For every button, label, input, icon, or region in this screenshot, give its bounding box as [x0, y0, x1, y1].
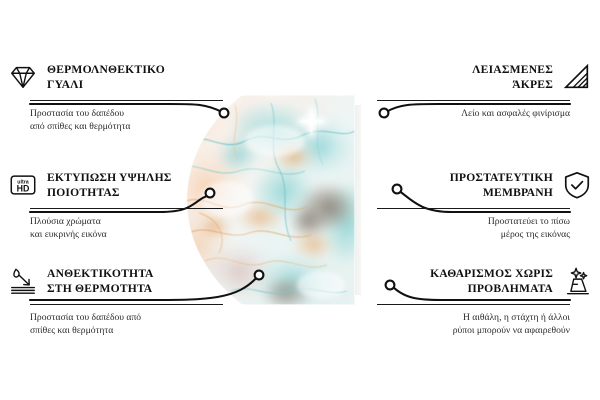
feature-title: ΠΡΟΣΤΑΤΕΥΤΙΚΗ ΜΕΜΒΡΑΝΗ: [450, 170, 553, 201]
feature-header: ΛΕΙΑΣΜΕΝΕΣ ΆΚΡΕΣ: [377, 62, 592, 93]
feature-thermal-glass: ΘΕΡΜΟΛΝΘΕΚΤΙΚΟ ΓΥΑΛΙ Προστασία του δαπέδ…: [8, 62, 223, 134]
feature-header: ΑΝΘΕΚΤΙΚΟΤΗΤΑ ΣΤΗ ΘΕΡΜΟΤΗΤΑ: [8, 266, 223, 297]
feature-subtitle: Λείο και ασφαλές φινίρισμα: [377, 107, 570, 121]
feature-title: ΘΕΡΜΟΛΝΘΕΚΤΙΚΟ ΓΥΑΛΙ: [47, 62, 165, 93]
feature-header: ΠΡΟΣΤΑΤΕΥΤΙΚΗ ΜΕΜΒΡΑΝΗ: [377, 170, 592, 201]
feature-title: ΚΑΘΑΡΙΣΜΟΣ ΧΩΡΙΣ ΠΡΟΒΛΗΜΑΤΑ: [430, 266, 553, 297]
feature-subtitle: Προστατεύει το πίσω μέρος της εικόνας: [377, 215, 570, 242]
feature-high-quality-print: ultra HD ΕΚΤΥΠΩΣΗ ΥΨΗΛΗΣ ΠΟΙΟΤΗΤΑΣ Πλούσ…: [8, 170, 223, 242]
feature-title: ΑΝΘΕΚΤΙΚΟΤΗΤΑ ΣΤΗ ΘΕΡΜΟΤΗΤΑ: [47, 266, 154, 297]
feature-protective-membrane: ΠΡΟΣΤΑΤΕΥΤΙΚΗ ΜΕΜΒΡΑΝΗ Προστατεύει το πί…: [377, 170, 592, 242]
feature-divider: [377, 304, 570, 305]
feature-title: ΕΚΤΥΠΩΣΗ ΥΨΗΛΗΣ ΠΟΙΟΤΗΤΑΣ: [47, 170, 172, 201]
feature-divider: [377, 208, 570, 209]
shield-check-icon: [562, 170, 592, 200]
feature-subtitle: Προστασία του δαπέδου από σπίθες και θερ…: [30, 311, 223, 338]
feature-divider: [30, 208, 223, 209]
feature-subtitle: Πλούσια χρώματα και ευκρινής εικόνα: [30, 215, 223, 242]
feature-divider: [30, 304, 223, 305]
infographic-stage: ΘΕΡΜΟΛΝΘΕΚΤΙΚΟ ΓΥΑΛΙ Προστασία του δαπέδ…: [0, 0, 600, 400]
feature-polished-edges: ΛΕΙΑΣΜΕΝΕΣ ΆΚΡΕΣ Λείο και ασφαλές φινίρι…: [377, 62, 592, 120]
feature-header: ultra HD ΕΚΤΥΠΩΣΗ ΥΨΗΛΗΣ ΠΟΙΟΤΗΤΑΣ: [8, 170, 223, 201]
feature-subtitle: Προστασία του δαπέδου από σπίθες και θερ…: [30, 107, 223, 134]
feature-heat-resistance: ΑΝΘΕΚΤΙΚΟΤΗΤΑ ΣΤΗ ΘΕΡΜΟΤΗΤΑ Προστασία το…: [8, 266, 223, 338]
diamond-icon: [8, 62, 38, 92]
feature-divider: [377, 100, 570, 101]
feature-subtitle: Η αιθάλη, η στάχτη ή άλλοι ρύποι μπορούν…: [377, 311, 570, 338]
polished-edges-icon: [562, 62, 592, 92]
feature-header: ΘΕΡΜΟΛΝΘΕΚΤΙΚΟ ΓΥΑΛΙ: [8, 62, 223, 93]
feature-title: ΛΕΙΑΣΜΕΝΕΣ ΆΚΡΕΣ: [472, 62, 553, 93]
ultra-hd-icon: ultra HD: [8, 170, 38, 200]
feature-divider: [30, 100, 223, 101]
hd-label: HD: [17, 184, 30, 194]
feature-easy-cleaning: ΚΑΘΑΡΙΣΜΟΣ ΧΩΡΙΣ ΠΡΟΒΛΗΜΑΤΑ Η αιθάλη, η …: [377, 266, 592, 338]
feature-header: ΚΑΘΑΡΙΣΜΟΣ ΧΩΡΙΣ ΠΡΟΒΛΗΜΑΤΑ: [377, 266, 592, 297]
heat-resistance-icon: [8, 266, 38, 296]
easy-clean-icon: [562, 266, 592, 296]
